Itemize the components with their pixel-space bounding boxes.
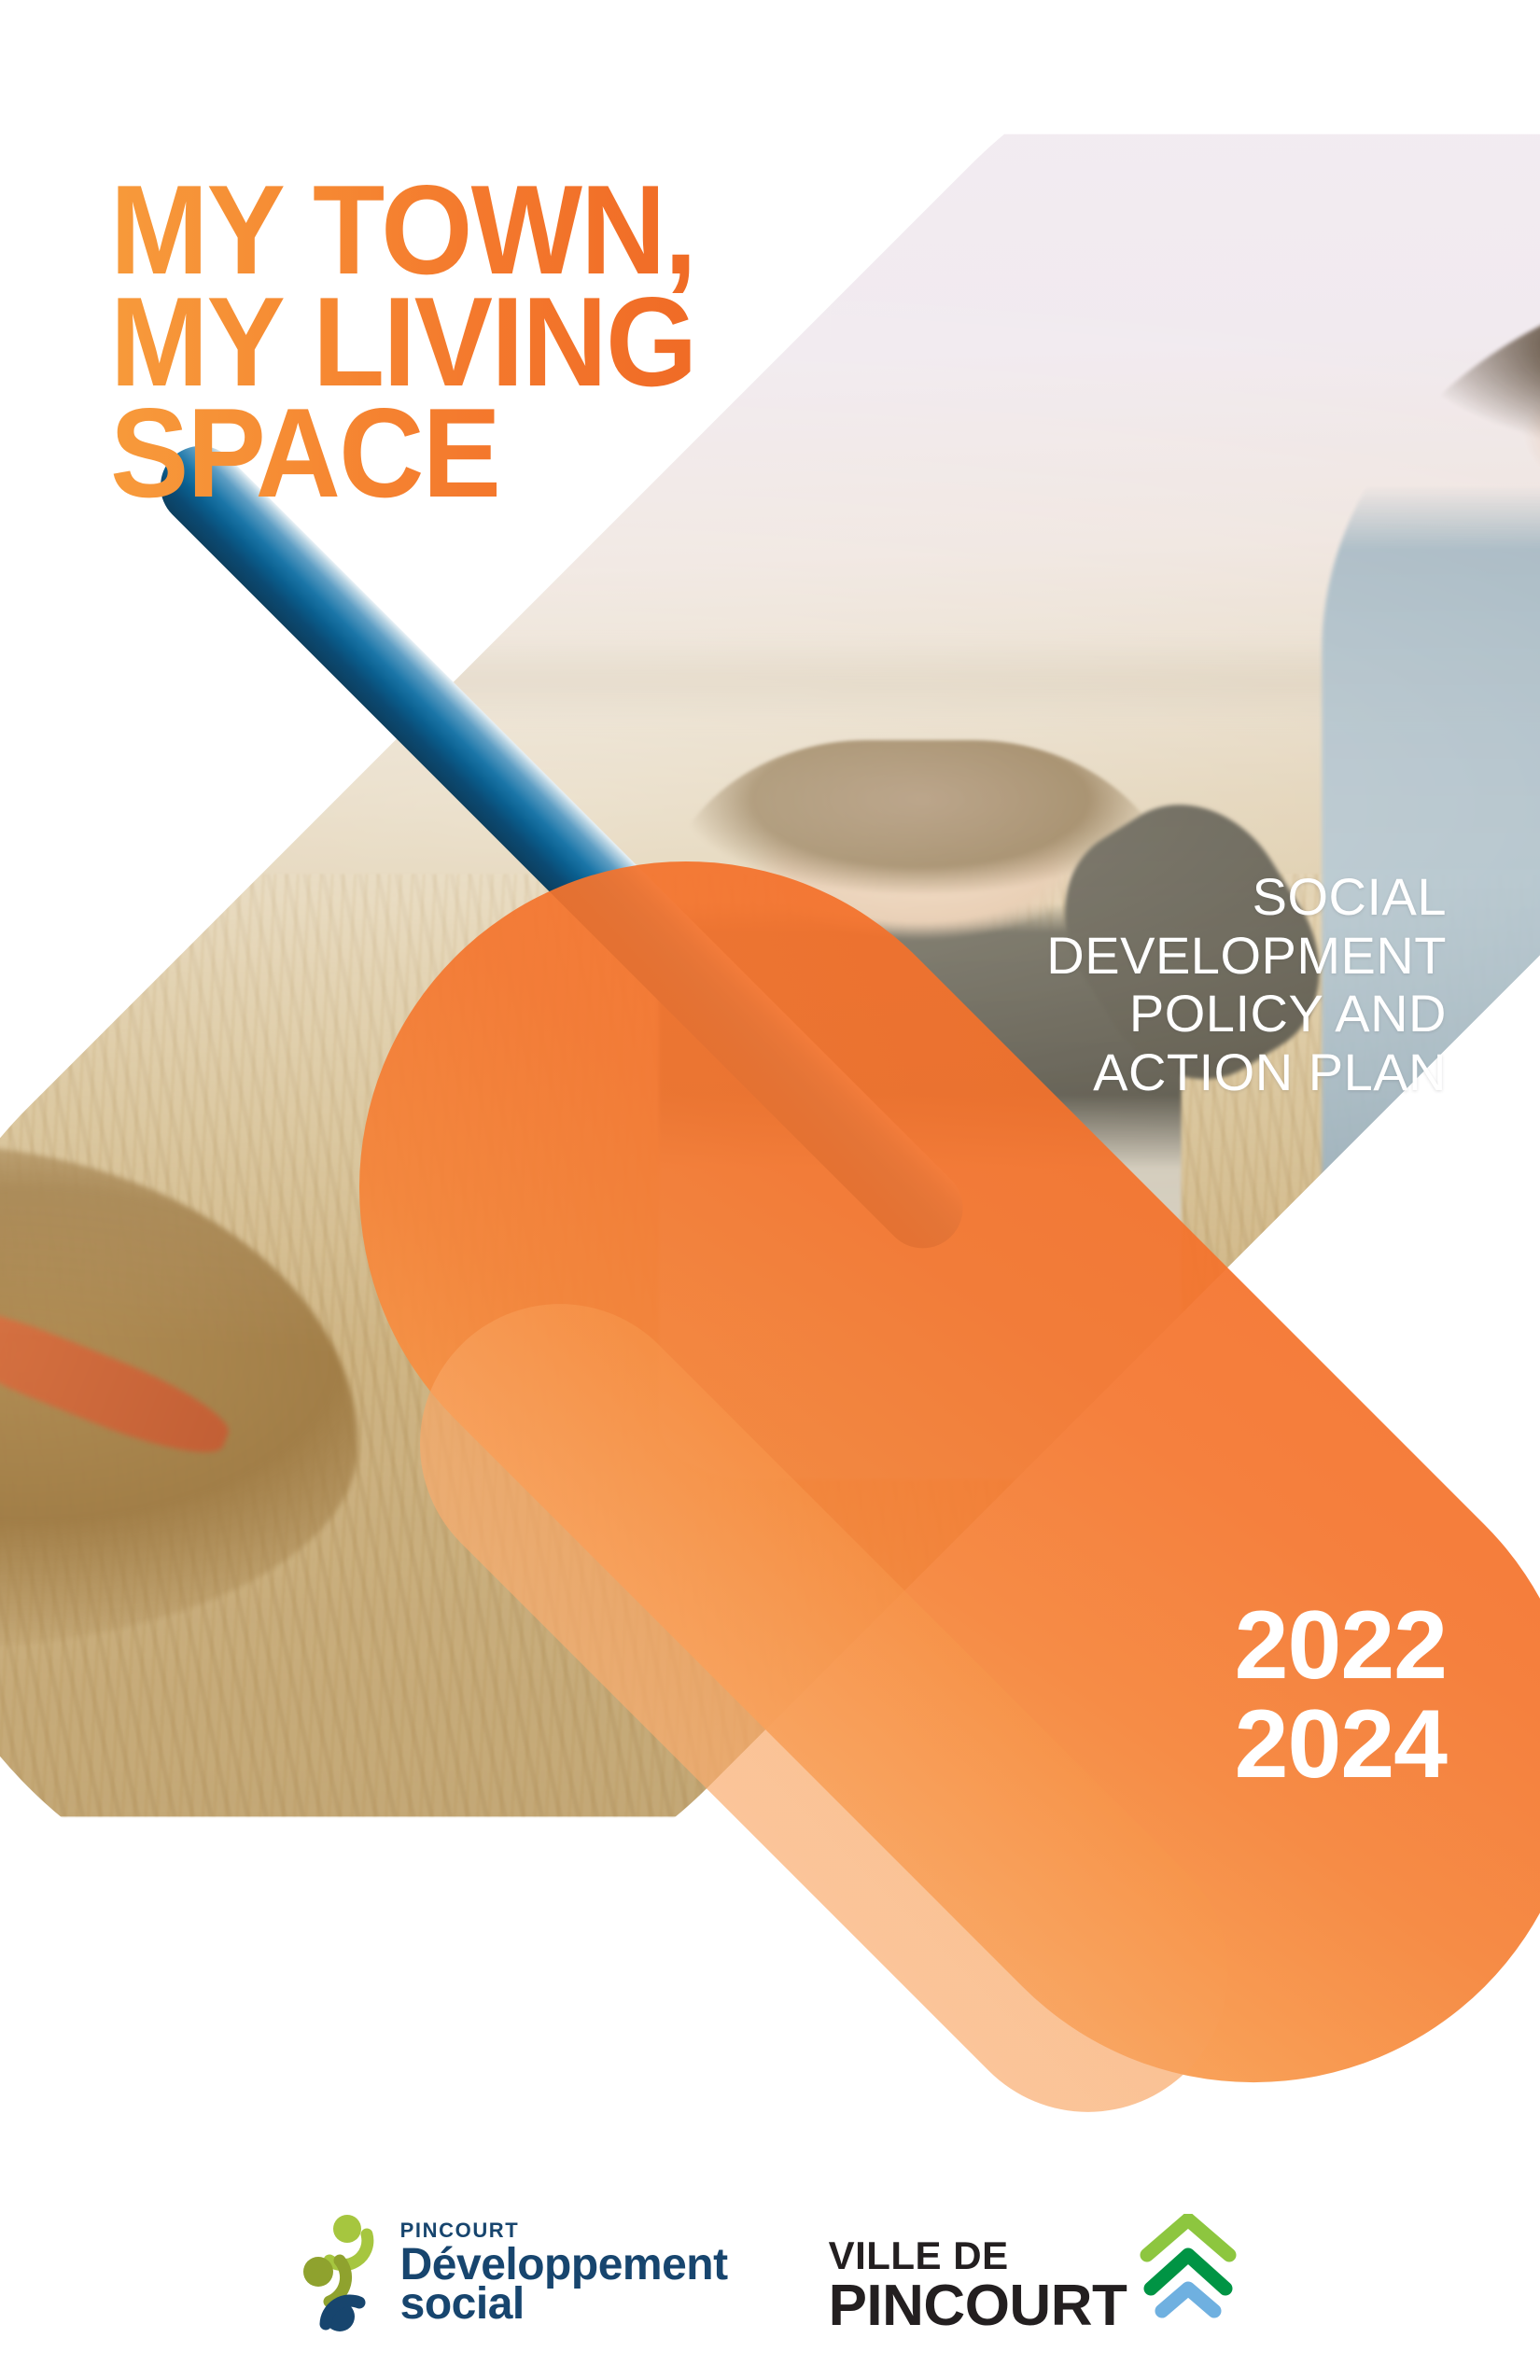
three-figures-icon — [301, 2212, 387, 2335]
pincourt-developpement-social-logo: PINCOURT Développement social — [301, 2212, 728, 2335]
ville-de-pincourt-logo: VILLE DE PINCOURT — [829, 2212, 1239, 2335]
page-title: MY TOWN, MY LIVING SPACE — [110, 175, 695, 510]
logo-vp-line-pincourt: PINCOURT — [829, 2277, 1127, 2335]
logo-ds-wordmark: PINCOURT Développement social — [400, 2220, 728, 2327]
footer-logos: PINCOURT Développement social VILLE DE P… — [0, 2212, 1540, 2335]
document-cover: MY TOWN, MY LIVING SPACE SOCIAL DEVELOPM… — [0, 0, 1540, 2380]
logo-vp-wordmark: VILLE DE PINCOURT — [829, 2236, 1127, 2335]
year-range: 2022 2024 — [1235, 1596, 1447, 1794]
logo-vp-line-ville-de: VILLE DE — [829, 2236, 1127, 2275]
three-chevrons-icon — [1138, 2214, 1239, 2318]
logo-ds-line-pincourt: PINCOURT — [400, 2220, 728, 2241]
logo-ds-line-social: social — [400, 2282, 728, 2327]
document-subtitle: SOCIAL DEVELOPMENT POLICY AND ACTION PLA… — [1008, 868, 1447, 1102]
